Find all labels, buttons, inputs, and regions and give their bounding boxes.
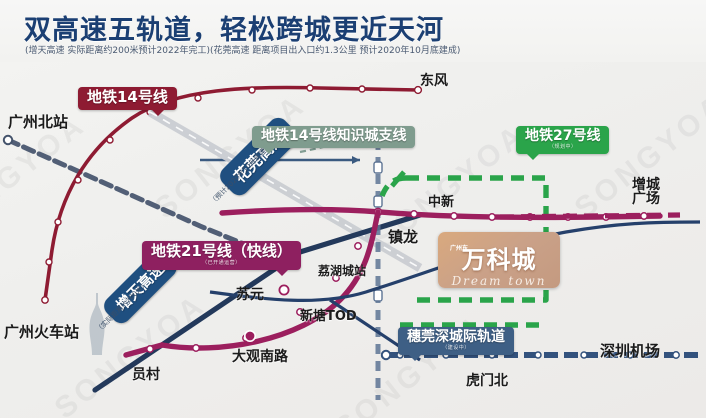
line-label-subtext: （建设中） (407, 346, 505, 351)
station-label-suyuan[interactable]: 苏元 (236, 288, 264, 302)
line-label-subtext: （已开通运营） (151, 261, 292, 266)
station-label-daguan-south-road[interactable]: 大观南路 (232, 350, 288, 364)
project-logo-english: Dream town (438, 274, 560, 288)
project-logo-card[interactable]: 广州东 万科城 Dream town 万科集团 · 中国房地产 (438, 232, 560, 288)
station-label-zengcheng-plaza[interactable]: 增城 广场 (632, 178, 660, 207)
line-label-text: 穗莞深城际轨道 (407, 329, 505, 345)
station-label-zhenlong[interactable]: 镇龙 (388, 230, 418, 245)
line-label-line-14-branch[interactable]: 地铁14号线知识城支线 (252, 126, 415, 148)
station-label-xintang-tod[interactable]: 新塘TOD (300, 310, 357, 323)
page-title: 双高速五轨道，轻松跨城更近天河 (24, 8, 444, 47)
line-label-line-21[interactable]: 地铁21号线（快线） （已开通运营） (142, 241, 301, 270)
page-subtitle: (增天高速 实际距离约200米预计2022年完工)(花莞高速 距离项目出入口约1… (25, 43, 460, 56)
line-label-text: 地铁27号线 (525, 128, 600, 144)
line-label-line-14[interactable]: 地铁14号线 (78, 87, 177, 110)
station-label-dongfeng[interactable]: 东风 (420, 74, 448, 88)
station-label-shenzhen-airport[interactable]: 深圳机场 (600, 344, 660, 359)
line-21-track-main (222, 208, 680, 220)
line-vertical-dashed-corridor (374, 140, 382, 400)
line-label-text: 地铁14号线知识城支线 (261, 128, 406, 144)
station-label-humen-north[interactable]: 虎门北 (466, 374, 508, 388)
line-label-line-27[interactable]: 地铁27号线 （规划中） (516, 126, 609, 154)
line-label-text: 地铁21号线（快线） (151, 242, 292, 260)
station-label-yuancun[interactable]: 员村 (132, 368, 160, 382)
station-label-zhongxin[interactable]: 中新 (428, 196, 454, 209)
header-bar: 双高速五轨道，轻松跨城更近天河 (增天高速 实际距离约200米预计2022年完工… (0, 0, 706, 62)
line-label-suiguanshen[interactable]: 穗莞深城际轨道 （建设中） (398, 327, 514, 355)
line-label-subtext: （规划中） (525, 145, 600, 150)
station-label-lihucheng[interactable]: 荔湖城站 (318, 265, 366, 277)
line-label-text: 地铁14号线 (87, 88, 168, 106)
station-label-guangzhou-railway[interactable]: 广州火车站 (4, 325, 79, 340)
project-logo-prefix: 广州东 (450, 243, 468, 252)
infographic-root: SONGYOA SONGYOA SONGYOA SONGYOA SONGYOA … (0, 0, 706, 418)
station-label-guangzhou-north[interactable]: 广州北站 (8, 115, 68, 130)
